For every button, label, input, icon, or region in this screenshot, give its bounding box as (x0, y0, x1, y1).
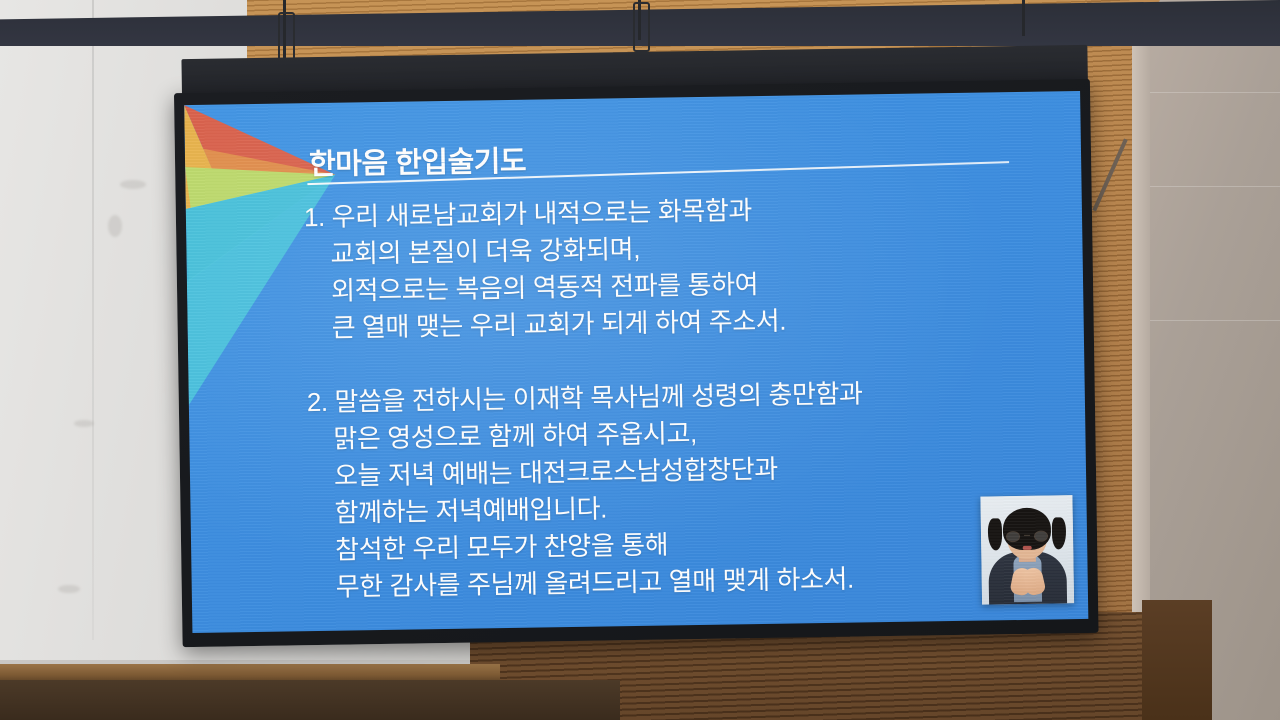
screenshot-root: 한마음 한입술기도 1. 우리 새로남교회가 내적으로는 화목함과 교회의 본질… (0, 0, 1280, 720)
wall-seam (92, 0, 94, 640)
wall-mark (108, 215, 122, 237)
hanging-rod (1022, 0, 1025, 36)
turnbuckle (278, 12, 295, 62)
wall-mark (74, 420, 94, 427)
panel-seam (1150, 320, 1280, 321)
display-bezel: 한마음 한입술기도 1. 우리 새로남교회가 내적으로는 화목함과 교회의 본질… (174, 79, 1099, 647)
interpreter-hair (1003, 508, 1052, 551)
wall-mark (58, 585, 80, 593)
turnbuckle (633, 2, 650, 52)
glasses-bridge-icon (1024, 535, 1030, 536)
wood-wall-lower-right (1142, 600, 1212, 720)
panel-seam (1150, 186, 1280, 187)
lower-dark-area (0, 680, 620, 720)
prayer-item-2: 2. 말씀을 전하시는 이재학 목사님께 성령의 충만함과 맑은 영성으로 함께… (307, 373, 1050, 607)
led-display: 한마음 한입술기도 1. 우리 새로남교회가 내적으로는 화목함과 교회의 본질… (173, 45, 1098, 647)
slide-body: 1. 우리 새로남교회가 내적으로는 화목함과 교회의 본질이 더욱 강화되며,… (304, 188, 1050, 607)
interpreter-hair-left (988, 518, 1003, 550)
wall-mark (120, 180, 146, 189)
sign-language-interpreter-video[interactable] (980, 495, 1074, 604)
interpreter-mouth (1023, 546, 1032, 550)
panel-seam (1150, 92, 1280, 93)
display-screen[interactable]: 한마음 한입술기도 1. 우리 새로남교회가 내적으로는 화목함과 교회의 본질… (184, 91, 1088, 633)
prayer-item-1: 1. 우리 새로남교회가 내적으로는 화목함과 교회의 본질이 더욱 강화되며,… (304, 188, 1046, 348)
